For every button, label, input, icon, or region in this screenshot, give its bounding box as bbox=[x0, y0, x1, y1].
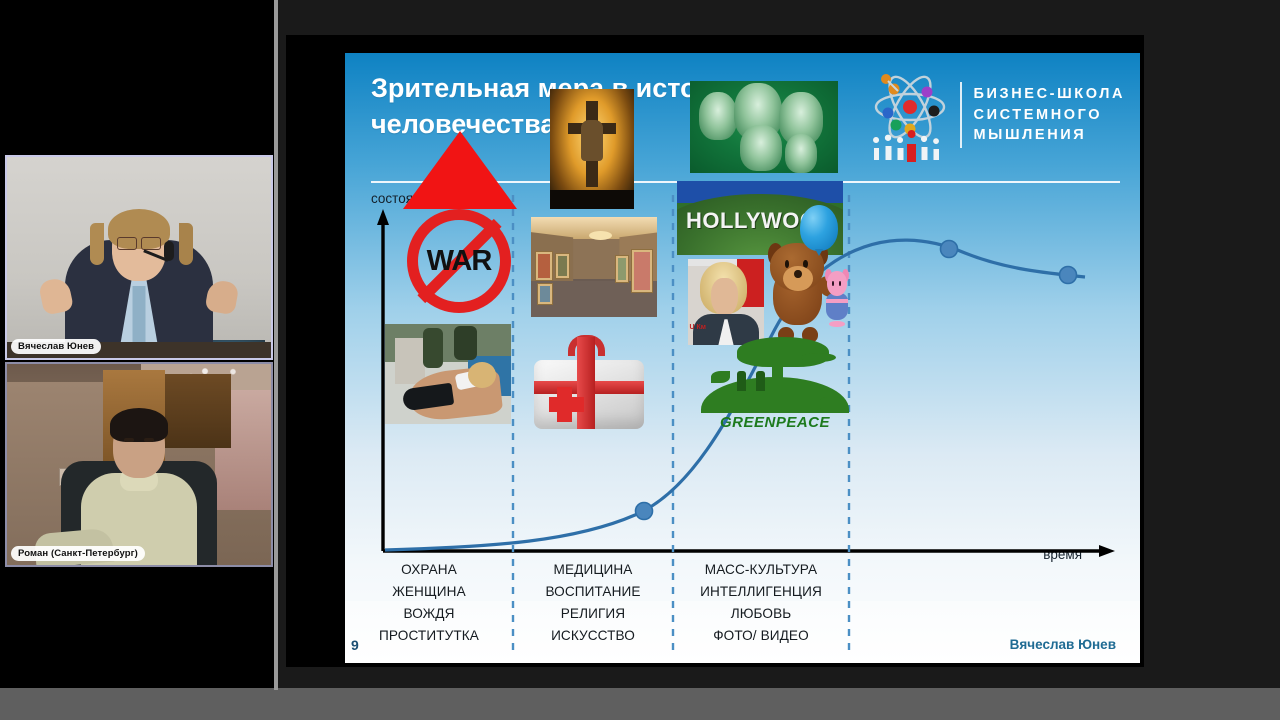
butterfly-icon bbox=[711, 371, 730, 383]
category-label-row: ОХРАНА ЖЕНЩИНА ВОЖДЯ ПРОСТИТУТКА МЕДИЦИН… bbox=[345, 559, 1140, 647]
bottom-gray-strip bbox=[0, 688, 1280, 720]
category-column-1: ОХРАНА ЖЕНЩИНА ВОЖДЯ ПРОСТИТУТКА bbox=[345, 559, 513, 647]
video-panel-attendee[interactable]: Роман (Санкт-Петербург) bbox=[5, 362, 273, 567]
winnie-pooh-cartoon bbox=[765, 241, 831, 337]
war-label: WAR bbox=[407, 209, 511, 313]
painting-canvas bbox=[634, 252, 650, 290]
kit-strap-vertical bbox=[577, 337, 596, 429]
ceiling-lamp bbox=[589, 231, 612, 240]
webinar-screen: Вячеслав Юнев Роман (Санкт-Петербург) Зр… bbox=[0, 0, 1280, 720]
category-label: ЛЮБОВЬ bbox=[673, 603, 849, 625]
framed-painting bbox=[555, 253, 570, 279]
hair bbox=[468, 362, 496, 388]
panel-splitter[interactable] bbox=[274, 0, 278, 690]
bird-icon bbox=[724, 385, 732, 397]
tree-left bbox=[423, 328, 443, 368]
bird-icon bbox=[810, 383, 820, 397]
category-label: ЖЕНЩИНА bbox=[345, 581, 513, 603]
left-panel-backdrop bbox=[0, 0, 276, 720]
video-feed-presenter bbox=[7, 157, 271, 358]
slide-number: 9 bbox=[351, 637, 359, 653]
category-label: ВОЖДЯ bbox=[345, 603, 513, 625]
greenpeace-logo: GREENPEACE bbox=[695, 331, 855, 431]
red-cross-horizontal bbox=[549, 397, 584, 412]
art-gallery-photo bbox=[531, 217, 657, 317]
category-label: ИСКУССТВО bbox=[513, 625, 673, 647]
painting-canvas bbox=[538, 254, 550, 278]
eye-left bbox=[124, 438, 134, 442]
eye-right bbox=[144, 438, 154, 442]
piglet-feet bbox=[829, 321, 845, 327]
piglet-head bbox=[827, 271, 847, 296]
brand-line-1: БИЗНЕС-ШКОЛА bbox=[974, 84, 1126, 105]
crucified-figure bbox=[581, 120, 603, 161]
cabinet-dark bbox=[165, 374, 231, 448]
participant-name-label: Вячеслав Юнев bbox=[11, 339, 101, 355]
portrait-face bbox=[740, 125, 781, 171]
brand-name: БИЗНЕС-ШКОЛА СИСТЕМНОГО МЫШЛЕНИЯ bbox=[974, 84, 1126, 146]
presentation-slide: Зрительная мера в истории человечества bbox=[345, 53, 1140, 663]
person-silhouette bbox=[756, 371, 766, 391]
atom-with-people-icon bbox=[864, 67, 956, 163]
first-aid-kit-icon bbox=[527, 335, 651, 439]
brand-line-2: СИСТЕМНОГО bbox=[974, 105, 1126, 126]
crucifix-photo bbox=[550, 89, 634, 209]
no-war-sign-icon: WAR bbox=[407, 209, 511, 313]
video-feed-attendee bbox=[7, 364, 271, 565]
category-label: ПРОСТИТУТКА bbox=[345, 625, 513, 647]
intelligentsia-portraits-photo bbox=[690, 81, 838, 173]
hair-right bbox=[179, 223, 193, 265]
category-label: МАСС-КУЛЬТУРА bbox=[673, 559, 849, 581]
piglet-body bbox=[826, 293, 848, 320]
category-label: ФОТО/ ВИДЕО bbox=[673, 625, 849, 647]
category-column-2: МЕДИЦИНА ВОСПИТАНИЕ РЕЛИГИЯ ИСКУССТВО bbox=[513, 559, 673, 647]
person-hair bbox=[110, 408, 168, 442]
painting-canvas bbox=[540, 286, 550, 302]
wall bbox=[395, 338, 425, 384]
piglet-eye-left bbox=[832, 281, 834, 286]
participant-name-label: Роман (Санкт-Петербург) bbox=[11, 546, 145, 562]
tree-canopy bbox=[737, 337, 830, 367]
logo-divider bbox=[960, 82, 962, 148]
greenpeace-label: GREENPEACE bbox=[695, 414, 855, 431]
video-panel-presenter[interactable]: Вячеслав Юнев bbox=[5, 155, 273, 360]
tree-branch bbox=[801, 353, 836, 362]
framed-painting bbox=[615, 255, 629, 283]
category-label: ИНТЕЛЛИГЕНЦИЯ bbox=[673, 581, 849, 603]
category-label: ВОСПИТАНИЕ bbox=[513, 581, 673, 603]
blue-balloon-icon bbox=[800, 205, 838, 251]
painting-canvas bbox=[618, 258, 626, 280]
category-label: РЕЛИГИЯ bbox=[513, 603, 673, 625]
category-label: МЕДИЦИНА bbox=[513, 559, 673, 581]
framed-painting bbox=[537, 283, 553, 305]
tree-right bbox=[454, 326, 477, 360]
presentation-frame[interactable]: Зрительная мера в истории человечества bbox=[286, 35, 1144, 667]
brand-logo: БИЗНЕС-ШКОЛА СИСТЕМНОГО МЫШЛЕНИЯ bbox=[864, 67, 1126, 163]
painting-canvas bbox=[558, 256, 567, 276]
red-triangle-icon bbox=[403, 131, 517, 209]
person-silhouette bbox=[737, 371, 747, 391]
category-column-3: МАСС-КУЛЬТУРА ИНТЕЛЛИГЕНЦИЯ ЛЮБОВЬ ФОТО/… bbox=[673, 559, 849, 647]
headset-icon bbox=[106, 241, 172, 271]
framed-painting bbox=[631, 249, 653, 293]
slide-author: Вячеслав Юнев bbox=[1010, 637, 1116, 652]
portrait-face bbox=[785, 134, 818, 173]
bikini-woman-photo bbox=[385, 324, 511, 424]
face bbox=[711, 278, 738, 316]
framed-painting bbox=[535, 251, 553, 281]
animal-icon bbox=[820, 397, 846, 409]
category-label: ОХРАНА bbox=[345, 559, 513, 581]
piglet-cartoon bbox=[823, 271, 851, 325]
brand-line-3: МЫШЛЕНИЯ bbox=[974, 125, 1126, 146]
piglet-stripe bbox=[826, 299, 848, 303]
ground bbox=[550, 190, 634, 209]
portrait-face bbox=[699, 92, 737, 140]
hair-left bbox=[90, 223, 104, 265]
